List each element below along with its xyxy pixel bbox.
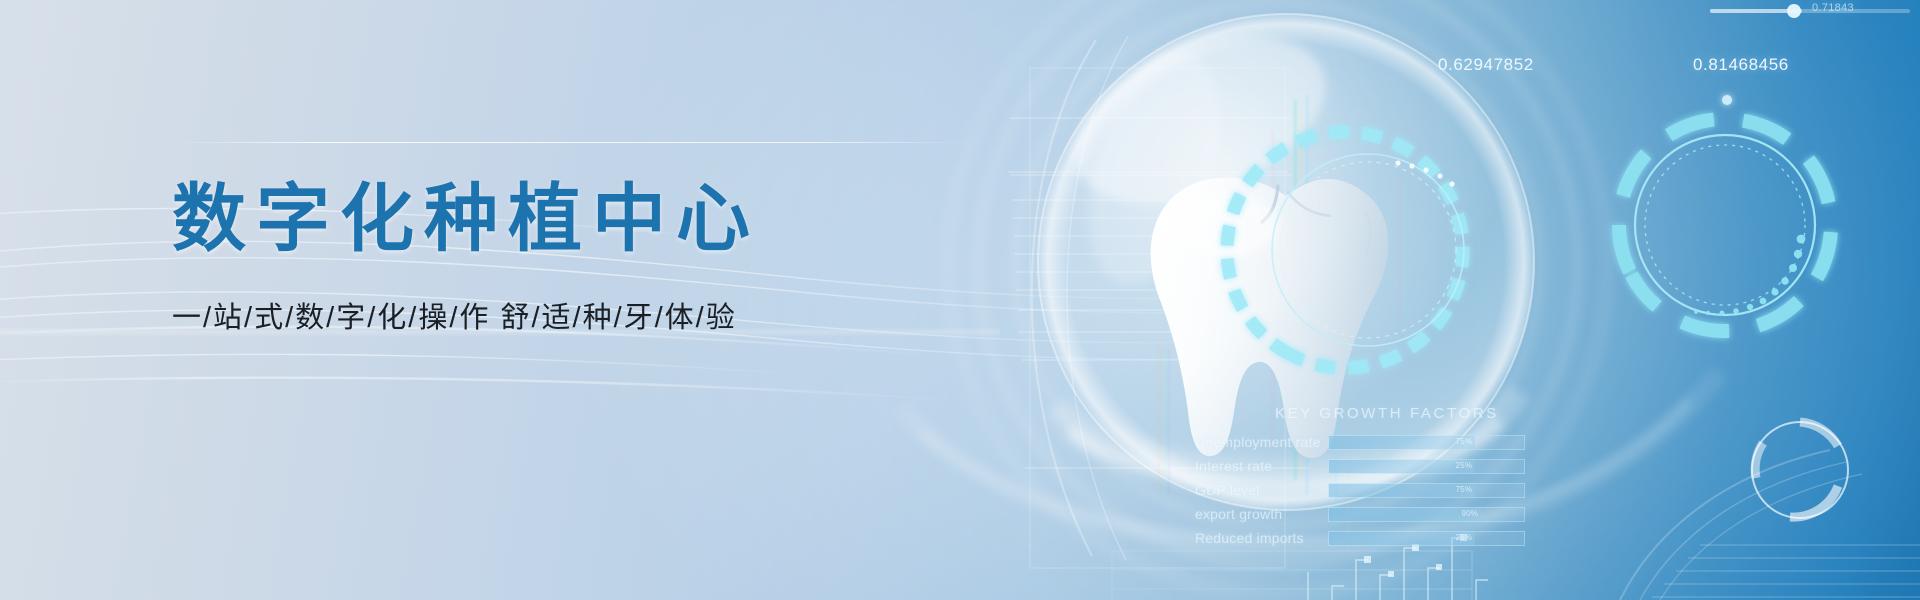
slider-icon <box>1710 4 1910 18</box>
kgf-row: export growth 90% <box>1195 504 1525 524</box>
title-divider-rule <box>172 142 972 143</box>
kgf-row-fill <box>1329 484 1475 497</box>
kgf-row: Interest rate 25% <box>1195 456 1525 476</box>
kgf-row-percent: 25% <box>1456 461 1476 470</box>
hud-readout-right: 0.81468456 <box>1693 55 1789 75</box>
kgf-row-track: 90% <box>1328 507 1525 522</box>
kgf-row-percent: 75% <box>1456 437 1476 446</box>
kgf-row-percent: 75% <box>1456 485 1476 494</box>
kgf-row-track: 25% <box>1328 531 1525 546</box>
kgf-row-fill <box>1329 436 1475 449</box>
kgf-row-track: 75% <box>1328 483 1525 498</box>
kgf-panel-title: KEY GROWTH FACTORS <box>1275 405 1525 422</box>
kgf-row-percent: 90% <box>1461 509 1481 518</box>
kgf-row: Reduced imports 25% <box>1195 528 1525 548</box>
kgf-row-fill <box>1329 508 1481 521</box>
hero-banner: 0.62947852 0.81468456 0.71843 KEY GROWTH… <box>0 0 1920 600</box>
key-growth-factors-panel: KEY GROWTH FACTORS Unemployment rate 75%… <box>1195 405 1525 552</box>
kgf-row-label: Reduced imports <box>1195 530 1328 546</box>
kgf-row-label: export growth <box>1195 506 1328 522</box>
hud-readout-slider-value: 0.71843 <box>1812 2 1854 14</box>
kgf-row: Unemployment rate 75% <box>1195 432 1525 452</box>
circular-gauge-icon <box>1582 82 1869 369</box>
kgf-row-label: GDP level <box>1195 482 1328 498</box>
headline-block: 数字化种植中心 一/站/式/数/字/化/操/作 舒/适/种/牙/体/验 <box>172 180 932 336</box>
kgf-row-track: 25% <box>1328 459 1525 474</box>
kgf-row-label: Interest rate <box>1195 458 1328 474</box>
kgf-row-fill <box>1329 532 1475 545</box>
kgf-row: GDP level 75% <box>1195 480 1525 500</box>
page-title: 数字化种植中心 <box>172 180 932 258</box>
hud-readout-left: 0.62947852 <box>1438 55 1534 75</box>
kgf-row-track: 75% <box>1328 435 1525 450</box>
kgf-row-percent: 25% <box>1456 533 1476 542</box>
kgf-row-label: Unemployment rate <box>1195 434 1328 450</box>
page-subtitle: 一/站/式/数/字/化/操/作 舒/适/种/牙/体/验 <box>172 294 932 336</box>
kgf-row-fill <box>1329 460 1475 473</box>
